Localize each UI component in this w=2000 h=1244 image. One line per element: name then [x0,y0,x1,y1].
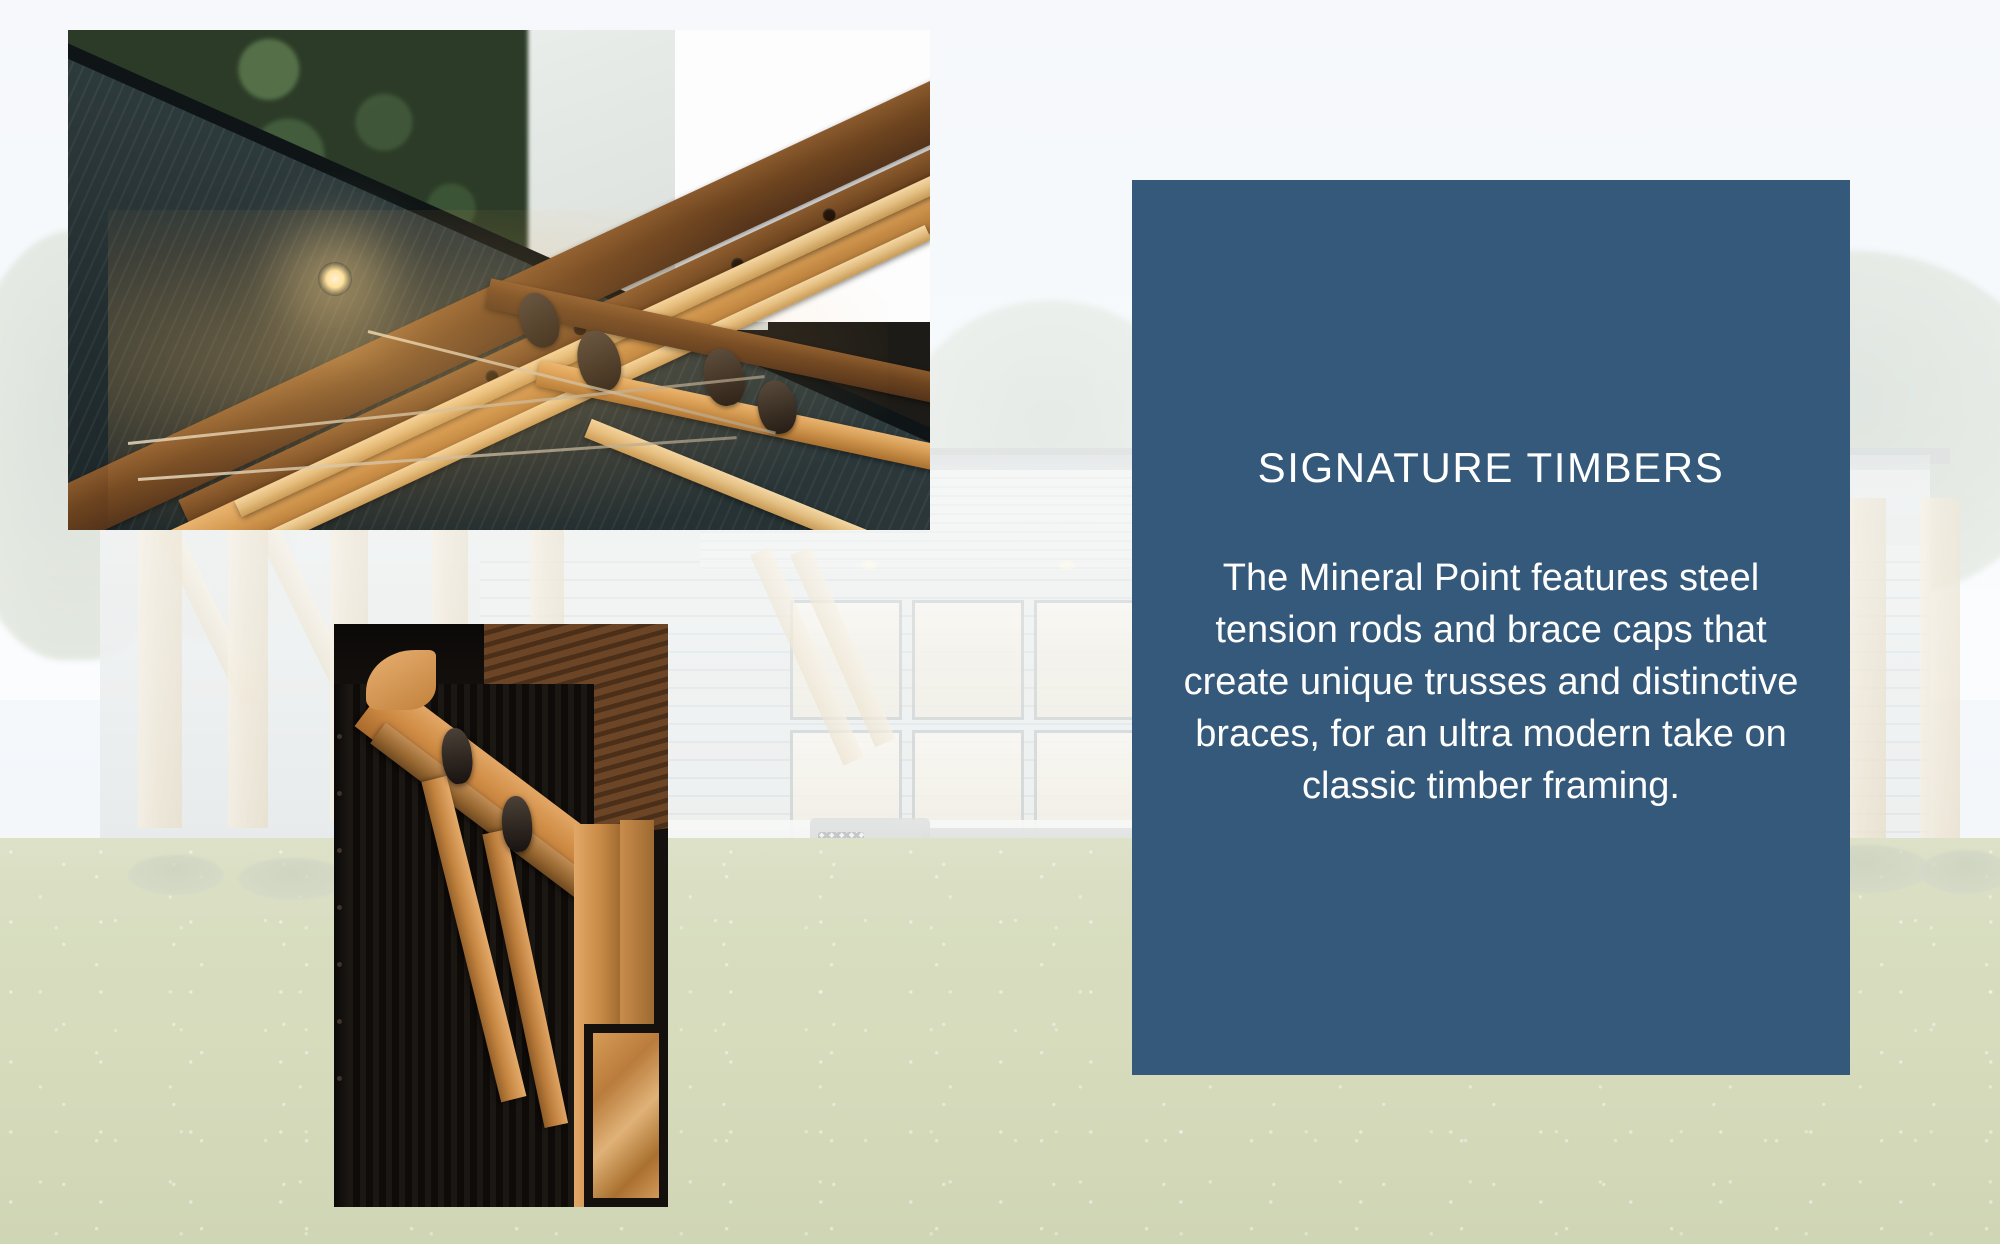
fastener-icon [337,1076,342,1081]
fastener-column [337,734,342,1174]
photo-brace-detail [334,624,668,1207]
page-title: SIGNATURE TIMBERS [1258,443,1725,493]
info-panel: SIGNATURE TIMBERS The Mineral Point feat… [1132,180,1850,1075]
fastener-icon [337,1019,342,1024]
fastener-icon [337,848,342,853]
window-reflection [593,1033,659,1198]
photo-truss-detail [68,30,930,530]
fastener-icon [337,734,342,739]
fastener-icon [337,791,342,796]
slide-canvas: SIGNATURE TIMBERS The Mineral Point feat… [0,0,2000,1244]
panel-body-text: The Mineral Point features steel tension… [1181,552,1801,812]
fastener-icon [337,905,342,910]
window-opening [584,1024,668,1207]
fastener-icon [337,962,342,967]
light-fixture-icon [318,262,352,296]
